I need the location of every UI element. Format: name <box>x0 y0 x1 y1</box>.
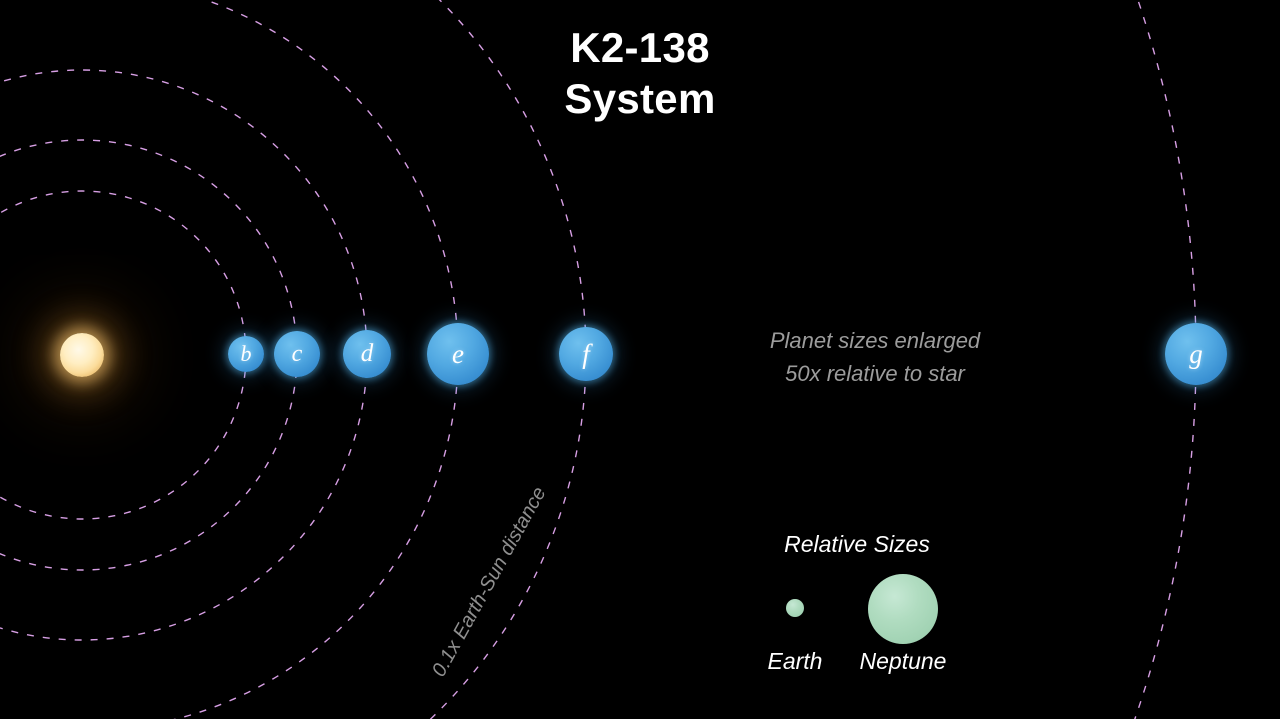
size-scale-annotation: Planet sizes enlarged 50x relative to st… <box>728 324 1022 390</box>
planet-label-c: c <box>292 341 303 368</box>
planet-label-e: e <box>452 339 464 370</box>
planet-c: c <box>274 331 320 377</box>
planet-b: b <box>228 336 264 372</box>
orbit-path-b <box>0 191 246 519</box>
planet-label-b: b <box>241 341 252 367</box>
planet-f: f <box>559 327 613 381</box>
planet-label-g: g <box>1189 339 1203 370</box>
legend-circle-neptune <box>868 574 938 644</box>
planet-label-f: f <box>582 339 590 370</box>
legend-circle-earth <box>786 599 804 617</box>
host-star <box>60 333 104 377</box>
planet-label-d: d <box>361 340 374 368</box>
legend-title: Relative Sizes <box>783 531 931 558</box>
diagram-title: K2-138 System <box>470 22 810 124</box>
planet-g: g <box>1165 323 1227 385</box>
planet-d: d <box>343 330 391 378</box>
legend-label-neptune: Neptune <box>813 648 993 675</box>
planet-e: e <box>427 323 489 385</box>
k2-138-system-diagram: K2-138 System bcdefg Planet sizes enlarg… <box>0 0 1280 719</box>
